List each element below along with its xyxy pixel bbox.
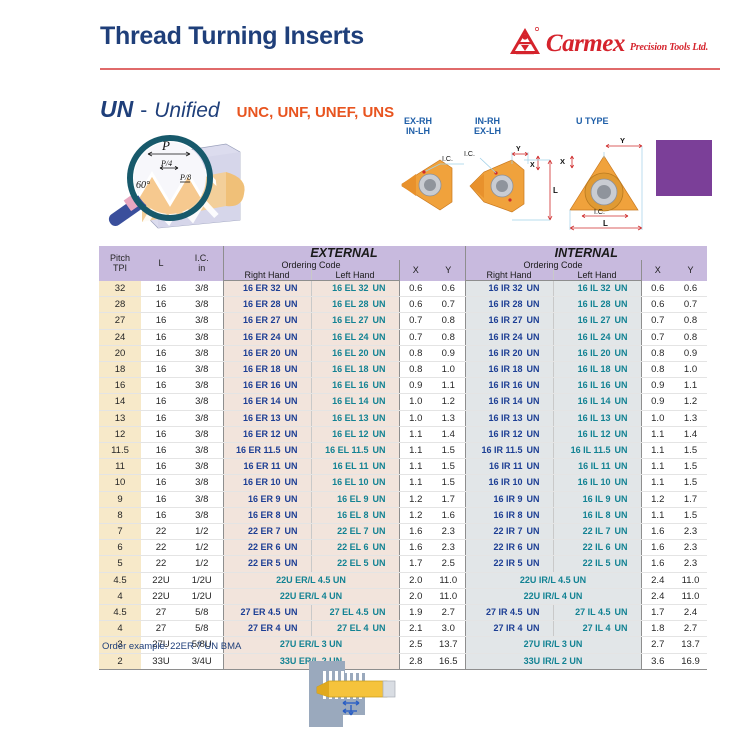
cell-internal-y: 1.5 [674, 507, 707, 523]
cell-ic: 3/8 [181, 394, 223, 410]
th-ext-ordering-code: Ordering Code [223, 260, 399, 270]
cell-external-left-hand-code: 16 EL 8UN [311, 507, 399, 523]
cell-internal-y: 1.3 [674, 410, 707, 426]
cell-external-y: 13.7 [432, 637, 465, 653]
cell-length: 16 [141, 426, 181, 442]
cell-external-x: 2.0 [399, 572, 432, 588]
cell-internal-y: 1.5 [674, 475, 707, 491]
th-external: EXTERNAL [223, 246, 465, 260]
cell-external-x: 1.2 [399, 507, 432, 523]
cell-internal-x: 1.1 [641, 507, 674, 523]
th-internal: INTERNAL [465, 246, 707, 260]
cell-external-y: 2.3 [432, 524, 465, 540]
cell-external-x: 0.7 [399, 313, 432, 329]
cell-internal-left-hand-code: 22 IL 5UN [553, 556, 641, 572]
cell-internal-x: 1.6 [641, 556, 674, 572]
table-row: 20163/816 ER 20UN16 EL 20UN0.80.916 IR 2… [99, 345, 707, 361]
cell-internal-y: 1.2 [674, 394, 707, 410]
th-ext-x: X [399, 260, 432, 281]
cell-ic: 3/8 [181, 410, 223, 426]
table-row: 14163/816 ER 14UN16 EL 14UN1.01.216 IR 1… [99, 394, 707, 410]
cell-external-x: 1.9 [399, 605, 432, 621]
cell-length: 16 [141, 475, 181, 491]
page-header: Thread Turning Inserts Carmex Precision … [100, 22, 720, 68]
cell-pitch: 6 [99, 540, 141, 556]
insert-geometry-diagrams: EX-RHIN-LH I.C. IN-RHEX-LH I.C. [398, 116, 658, 236]
cell-external-right-hand-code: 16 ER 16UN [223, 378, 311, 394]
cell-external-right-hand-code: 27 ER 4.5UN [223, 605, 311, 621]
cell-internal-y: 2.3 [674, 540, 707, 556]
cell-internal-code-merged: 22U IR/L 4.5 UN [465, 572, 641, 588]
cell-pitch: 12 [99, 426, 141, 442]
cell-external-x: 1.6 [399, 524, 432, 540]
cell-external-x: 1.7 [399, 556, 432, 572]
cell-external-y: 11.0 [432, 588, 465, 604]
cell-length: 16 [141, 281, 181, 297]
svg-text:P/8: P/8 [179, 173, 191, 182]
cell-external-y: 2.7 [432, 605, 465, 621]
cell-external-y: 1.5 [432, 443, 465, 459]
cell-ic: 3/8 [181, 426, 223, 442]
th-ext-left-hand: Left Hand [311, 270, 399, 281]
cell-internal-right-hand-code: 16 IR 14UN [465, 394, 553, 410]
cell-external-right-hand-code: 16 ER 11.5UN [223, 443, 311, 459]
cell-ic: 3/8 [181, 507, 223, 523]
svg-text:X: X [560, 157, 565, 166]
cell-internal-y: 2.4 [674, 605, 707, 621]
cell-ic: 3/8 [181, 362, 223, 378]
cell-internal-right-hand-code: 16 IR 12UN [465, 426, 553, 442]
cell-external-left-hand-code: 16 EL 10UN [311, 475, 399, 491]
cell-external-x: 0.7 [399, 329, 432, 345]
th-ext-right-hand: Right Hand [223, 270, 311, 281]
th-ic: I.C. in [181, 246, 223, 281]
cell-internal-x: 1.0 [641, 410, 674, 426]
cell-internal-y: 11.0 [674, 588, 707, 604]
table-row: 28163/816 ER 28UN16 EL 28UN0.60.716 IR 2… [99, 297, 707, 313]
table-row: 9163/816 ER 9UN16 EL 9UN1.21.716 IR 9UN1… [99, 491, 707, 507]
cell-internal-left-hand-code: 16 IL 11UN [553, 459, 641, 475]
cell-external-code-merged: 22U ER/L 4.5 UN [223, 572, 399, 588]
cell-external-left-hand-code: 16 EL 9UN [311, 491, 399, 507]
table-row: 422U1/2U22U ER/L 4 UN2.011.022U IR/L 4 U… [99, 588, 707, 604]
cell-ic: 3/8 [181, 491, 223, 507]
cell-external-x: 1.2 [399, 491, 432, 507]
cell-internal-left-hand-code: 27 IL 4UN [553, 621, 641, 637]
cell-external-y: 3.0 [432, 621, 465, 637]
cell-external-code-merged: 22U ER/L 4 UN [223, 588, 399, 604]
cell-internal-x: 1.8 [641, 621, 674, 637]
cell-external-y: 0.6 [432, 281, 465, 297]
cell-length: 16 [141, 394, 181, 410]
purple-section-tab [656, 140, 712, 196]
table-row: 18163/816 ER 18UN16 EL 18UN0.81.016 IR 1… [99, 362, 707, 378]
cell-pitch: 4.5 [99, 572, 141, 588]
cell-internal-left-hand-code: 16 IL 11.5UN [553, 443, 641, 459]
cell-external-right-hand-code: 27 ER 4UN [223, 621, 311, 637]
cell-external-left-hand-code: 22 EL 5UN [311, 556, 399, 572]
svg-text:Y: Y [516, 146, 521, 153]
page-title: Thread Turning Inserts [100, 22, 364, 51]
cell-internal-right-hand-code: 16 IR 10UN [465, 475, 553, 491]
cell-internal-left-hand-code: 16 IL 14UN [553, 394, 641, 410]
cell-ic: 1/2U [181, 588, 223, 604]
cell-ic: 5/8 [181, 605, 223, 621]
cell-pitch: 24 [99, 329, 141, 345]
th-int-right-hand: Right Hand [465, 270, 553, 281]
cell-internal-left-hand-code: 16 IL 32UN [553, 281, 641, 297]
cell-external-right-hand-code: 16 ER 11UN [223, 459, 311, 475]
cell-internal-left-hand-code: 16 IL 13UN [553, 410, 641, 426]
cell-internal-left-hand-code: 22 IL 7UN [553, 524, 641, 540]
cell-internal-right-hand-code: 16 IR 11UN [465, 459, 553, 475]
insert-in-rh-icon: I.C. Y X L [462, 146, 572, 237]
cell-internal-x: 1.1 [641, 475, 674, 491]
cell-external-y: 1.5 [432, 475, 465, 491]
cell-internal-y: 1.7 [674, 491, 707, 507]
cell-external-x: 0.9 [399, 378, 432, 394]
cell-ic: 3/8 [181, 345, 223, 361]
table-row: 32163/816 ER 32UN16 EL 32UN0.60.616 IR 3… [99, 281, 707, 297]
cell-ic: 3/8 [181, 329, 223, 345]
diagram-label-u-type: U TYPE [576, 116, 609, 126]
cell-external-right-hand-code: 16 ER 20UN [223, 345, 311, 361]
cell-ic: 1/2 [181, 556, 223, 572]
cell-ic: 3/8 [181, 297, 223, 313]
cell-internal-x: 0.7 [641, 329, 674, 345]
cell-pitch: 16 [99, 378, 141, 394]
insert-u-type-icon: Y X I.C. L [558, 138, 658, 239]
cell-length: 16 [141, 410, 181, 426]
cell-external-x: 0.6 [399, 281, 432, 297]
cell-pitch: 20 [99, 345, 141, 361]
cell-internal-left-hand-code: 16 IL 16UN [553, 378, 641, 394]
cell-internal-right-hand-code: 27 IR 4.5UN [465, 605, 553, 621]
cell-length: 22U [141, 588, 181, 604]
svg-text:L: L [603, 219, 608, 228]
cell-internal-right-hand-code: 16 IR 32UN [465, 281, 553, 297]
cell-ic: 3/8 [181, 459, 223, 475]
svg-text:I.C.: I.C. [442, 156, 453, 163]
th-pitch: Pitch TPI [99, 246, 141, 281]
cell-internal-left-hand-code: 16 IL 18UN [553, 362, 641, 378]
cell-ic: 3/8 [181, 475, 223, 491]
cell-external-left-hand-code: 16 EL 27UN [311, 313, 399, 329]
cell-ic: 3/8 [181, 313, 223, 329]
cell-pitch: 28 [99, 297, 141, 313]
table-row: 4275/827 ER 4UN27 EL 4UN2.13.027 IR 4UN2… [99, 621, 707, 637]
cell-external-y: 1.0 [432, 362, 465, 378]
cell-external-y: 0.7 [432, 297, 465, 313]
th-int-x: X [641, 260, 674, 281]
cell-length: 16 [141, 362, 181, 378]
cell-length: 16 [141, 378, 181, 394]
cell-pitch: 27 [99, 313, 141, 329]
cell-external-left-hand-code: 16 EL 18UN [311, 362, 399, 378]
cell-internal-y: 0.7 [674, 297, 707, 313]
cell-length: 33U [141, 653, 181, 669]
cell-internal-right-hand-code: 16 IR 28UN [465, 297, 553, 313]
cell-internal-left-hand-code: 16 IL 9UN [553, 491, 641, 507]
cell-external-y: 1.5 [432, 459, 465, 475]
cell-external-right-hand-code: 16 ER 24UN [223, 329, 311, 345]
order-example-note: Order example: 22ER 7 UN BMA [102, 641, 241, 652]
insert-ex-rh-icon: I.C. [394, 146, 468, 229]
table-body: 32163/816 ER 32UN16 EL 32UN0.60.616 IR 3… [99, 281, 707, 670]
cell-external-right-hand-code: 22 ER 7UN [223, 524, 311, 540]
cell-internal-right-hand-code: 16 IR 18UN [465, 362, 553, 378]
cell-external-left-hand-code: 16 EL 13UN [311, 410, 399, 426]
cell-external-right-hand-code: 16 ER 14UN [223, 394, 311, 410]
table-row: 6221/222 ER 6UN22 EL 6UN1.62.322 IR 6UN2… [99, 540, 707, 556]
cell-external-left-hand-code: 22 EL 7UN [311, 524, 399, 540]
cell-external-x: 1.1 [399, 443, 432, 459]
cell-external-x: 1.0 [399, 410, 432, 426]
cell-pitch: 32 [99, 281, 141, 297]
cell-internal-right-hand-code: 27 IR 4UN [465, 621, 553, 637]
cell-internal-x: 1.1 [641, 443, 674, 459]
cell-internal-x: 0.6 [641, 281, 674, 297]
table-row: 4.5275/827 ER 4.5UN27 EL 4.5UN1.92.727 I… [99, 605, 707, 621]
cell-internal-right-hand-code: 22 IR 7UN [465, 524, 553, 540]
cell-external-x: 2.0 [399, 588, 432, 604]
cell-internal-y: 0.6 [674, 281, 707, 297]
cell-internal-left-hand-code: 16 IL 10UN [553, 475, 641, 491]
cell-internal-x: 1.1 [641, 459, 674, 475]
svg-text:Y: Y [620, 138, 625, 145]
cell-external-y: 2.5 [432, 556, 465, 572]
table-row: 27163/816 ER 27UN16 EL 27UN0.70.816 IR 2… [99, 313, 707, 329]
cell-external-x: 0.6 [399, 297, 432, 313]
cell-pitch: 14 [99, 394, 141, 410]
cell-external-left-hand-code: 16 EL 20UN [311, 345, 399, 361]
cell-internal-right-hand-code: 16 IR 9UN [465, 491, 553, 507]
cell-length: 16 [141, 443, 181, 459]
cell-pitch: 2 [99, 653, 141, 669]
cell-external-y: 1.7 [432, 491, 465, 507]
cell-internal-x: 1.6 [641, 540, 674, 556]
cell-ic: 1/2 [181, 540, 223, 556]
cell-pitch: 11.5 [99, 443, 141, 459]
cell-length: 22 [141, 556, 181, 572]
cell-external-left-hand-code: 16 EL 11UN [311, 459, 399, 475]
cell-length: 27 [141, 621, 181, 637]
carmex-triangle-logo-icon [509, 26, 541, 56]
cell-internal-y: 1.1 [674, 378, 707, 394]
cell-internal-x: 2.7 [641, 637, 674, 653]
cell-internal-y: 1.5 [674, 443, 707, 459]
cell-internal-left-hand-code: 16 IL 24UN [553, 329, 641, 345]
cell-external-left-hand-code: 16 EL 11.5UN [311, 443, 399, 459]
cell-ic: 5/8 [181, 621, 223, 637]
cell-external-x: 1.1 [399, 426, 432, 442]
cell-internal-y: 0.8 [674, 313, 707, 329]
cell-internal-y: 13.7 [674, 637, 707, 653]
cell-external-y: 1.2 [432, 394, 465, 410]
cell-external-y: 0.8 [432, 313, 465, 329]
cell-external-y: 1.6 [432, 507, 465, 523]
cell-internal-left-hand-code: 16 IL 8UN [553, 507, 641, 523]
thread-standard-heading: UN - Unified UNC, UNF, UNEF, UNS [100, 96, 394, 123]
cell-length: 22U [141, 572, 181, 588]
standard-name: Unified [154, 99, 219, 123]
cell-internal-x: 0.6 [641, 297, 674, 313]
diagram-label-ex-rh: EX-RHIN-LH [404, 116, 432, 136]
cell-external-left-hand-code: 27 EL 4UN [311, 621, 399, 637]
brand-tagline: Precision Tools Ltd. [630, 43, 708, 56]
cell-length: 16 [141, 329, 181, 345]
cell-internal-x: 1.6 [641, 524, 674, 540]
cell-external-y: 1.4 [432, 426, 465, 442]
cell-pitch: 4.5 [99, 605, 141, 621]
cell-external-left-hand-code: 16 EL 14UN [311, 394, 399, 410]
cell-external-y: 0.9 [432, 345, 465, 361]
cell-external-right-hand-code: 16 ER 32UN [223, 281, 311, 297]
cell-internal-left-hand-code: 16 IL 28UN [553, 297, 641, 313]
th-int-left-hand: Left Hand [553, 270, 641, 281]
cell-internal-x: 2.4 [641, 588, 674, 604]
cell-internal-y: 16.9 [674, 653, 707, 669]
cell-internal-code-merged: 33U IR/L 2 UN [465, 653, 641, 669]
cell-external-right-hand-code: 16 ER 28UN [223, 297, 311, 313]
cell-external-y: 2.3 [432, 540, 465, 556]
cell-ic: 3/8 [181, 281, 223, 297]
cell-ic: 3/8 [181, 443, 223, 459]
cell-external-right-hand-code: 16 ER 18UN [223, 362, 311, 378]
cell-external-left-hand-code: 16 EL 28UN [311, 297, 399, 313]
cell-internal-right-hand-code: 22 IR 5UN [465, 556, 553, 572]
cell-pitch: 11 [99, 459, 141, 475]
table-row: 16163/816 ER 16UN16 EL 16UN0.91.116 IR 1… [99, 378, 707, 394]
table-row: 7221/222 ER 7UN22 EL 7UN1.62.322 IR 7UN2… [99, 524, 707, 540]
cell-pitch: 10 [99, 475, 141, 491]
cell-internal-y: 1.4 [674, 426, 707, 442]
cell-internal-y: 0.9 [674, 345, 707, 361]
cell-length: 16 [141, 507, 181, 523]
table-row: 5221/222 ER 5UN22 EL 5UN1.72.522 IR 5UN2… [99, 556, 707, 572]
cell-external-x: 0.8 [399, 362, 432, 378]
cell-ic: 1/2U [181, 572, 223, 588]
internal-threading-tool-icon [303, 657, 413, 737]
cell-internal-x: 0.7 [641, 313, 674, 329]
cell-internal-x: 1.1 [641, 426, 674, 442]
cell-internal-left-hand-code: 16 IL 12UN [553, 426, 641, 442]
cell-internal-y: 1.5 [674, 459, 707, 475]
cell-external-x: 1.6 [399, 540, 432, 556]
cell-pitch: 13 [99, 410, 141, 426]
cell-length: 16 [141, 459, 181, 475]
cell-external-code-merged: 27U ER/L 3 UN [223, 637, 399, 653]
cell-internal-right-hand-code: 22 IR 6UN [465, 540, 553, 556]
cell-external-y: 0.8 [432, 329, 465, 345]
cell-internal-right-hand-code: 16 IR 11.5UN [465, 443, 553, 459]
cell-pitch: 4 [99, 621, 141, 637]
cell-internal-x: 2.4 [641, 572, 674, 588]
svg-text:P/4: P/4 [160, 159, 172, 168]
cell-external-right-hand-code: 22 ER 5UN [223, 556, 311, 572]
spec-table: Pitch TPI L I.C. in EXTERNAL INTERNAL Or… [99, 246, 707, 670]
cell-internal-y: 11.0 [674, 572, 707, 588]
cell-internal-y: 2.7 [674, 621, 707, 637]
th-int-y: Y [674, 260, 707, 281]
cell-internal-x: 1.7 [641, 605, 674, 621]
cell-internal-x: 0.9 [641, 394, 674, 410]
cell-internal-code-merged: 27U IR/L 3 UN [465, 637, 641, 653]
cell-external-y: 16.5 [432, 653, 465, 669]
cell-internal-x: 0.8 [641, 362, 674, 378]
cell-external-left-hand-code: 16 EL 32UN [311, 281, 399, 297]
svg-text:I.C.: I.C. [594, 209, 605, 216]
diagram-label-in-rh: IN-RHEX-LH [474, 116, 501, 136]
cell-external-x: 2.5 [399, 637, 432, 653]
cell-external-right-hand-code: 16 ER 27UN [223, 313, 311, 329]
table-row: 10163/816 ER 10UN16 EL 10UN1.11.516 IR 1… [99, 475, 707, 491]
cell-ic: 1/2 [181, 524, 223, 540]
cell-internal-x: 3.6 [641, 653, 674, 669]
cell-pitch: 8 [99, 507, 141, 523]
cell-pitch: 4 [99, 588, 141, 604]
cell-internal-y: 0.8 [674, 329, 707, 345]
cell-internal-y: 1.0 [674, 362, 707, 378]
cell-external-y: 11.0 [432, 572, 465, 588]
svg-text:I.C.: I.C. [464, 151, 475, 158]
cell-external-y: 1.3 [432, 410, 465, 426]
th-length: L [141, 246, 181, 281]
cell-external-x: 1.1 [399, 475, 432, 491]
table-row: 4.522U1/2U22U ER/L 4.5 UN2.011.022U IR/L… [99, 572, 707, 588]
cell-internal-x: 0.8 [641, 345, 674, 361]
cell-internal-left-hand-code: 16 IL 20UN [553, 345, 641, 361]
cell-external-y: 1.1 [432, 378, 465, 394]
brand-logo: Carmex Precision Tools Ltd. [509, 26, 708, 56]
magnifier-thread-profile-icon: P P/4 P/8 60° [98, 128, 348, 236]
table-row: 11.5163/816 ER 11.5UN16 EL 11.5UN1.11.51… [99, 443, 707, 459]
cell-ic: 3/8 [181, 378, 223, 394]
cell-external-right-hand-code: 22 ER 6UN [223, 540, 311, 556]
cell-ic: 3/4U [181, 653, 223, 669]
cell-length: 22 [141, 540, 181, 556]
table-row: 8163/816 ER 8UN16 EL 8UN1.21.616 IR 8UN1… [99, 507, 707, 523]
cell-length: 16 [141, 313, 181, 329]
cell-pitch: 9 [99, 491, 141, 507]
standard-dash: - [140, 99, 147, 123]
header-divider [100, 68, 720, 70]
cell-internal-x: 1.2 [641, 491, 674, 507]
insert-specification-table: Pitch TPI L I.C. in EXTERNAL INTERNAL Or… [99, 246, 656, 670]
cell-length: 16 [141, 491, 181, 507]
cell-external-x: 1.1 [399, 459, 432, 475]
cell-external-left-hand-code: 22 EL 6UN [311, 540, 399, 556]
cell-internal-code-merged: 22U IR/L 4 UN [465, 588, 641, 604]
th-ext-y: Y [432, 260, 465, 281]
th-int-ordering-code: Ordering Code [465, 260, 641, 270]
table-row: 12163/816 ER 12UN16 EL 12UN1.11.416 IR 1… [99, 426, 707, 442]
cell-internal-x: 0.9 [641, 378, 674, 394]
cell-external-left-hand-code: 16 EL 24UN [311, 329, 399, 345]
cell-length: 22 [141, 524, 181, 540]
table-head: Pitch TPI L I.C. in EXTERNAL INTERNAL Or… [99, 246, 707, 281]
cell-length: 16 [141, 345, 181, 361]
cell-external-right-hand-code: 16 ER 8UN [223, 507, 311, 523]
cell-length: 27 [141, 605, 181, 621]
svg-text:X: X [530, 162, 535, 169]
standard-series-list: UNC, UNF, UNEF, UNS [237, 104, 395, 121]
table-row: 24163/816 ER 24UN16 EL 24UN0.70.816 IR 2… [99, 329, 707, 345]
cell-external-x: 2.1 [399, 621, 432, 637]
cell-internal-left-hand-code: 16 IL 27UN [553, 313, 641, 329]
cell-internal-left-hand-code: 22 IL 6UN [553, 540, 641, 556]
table-row: 13163/816 ER 13UN16 EL 13UN1.01.316 IR 1… [99, 410, 707, 426]
